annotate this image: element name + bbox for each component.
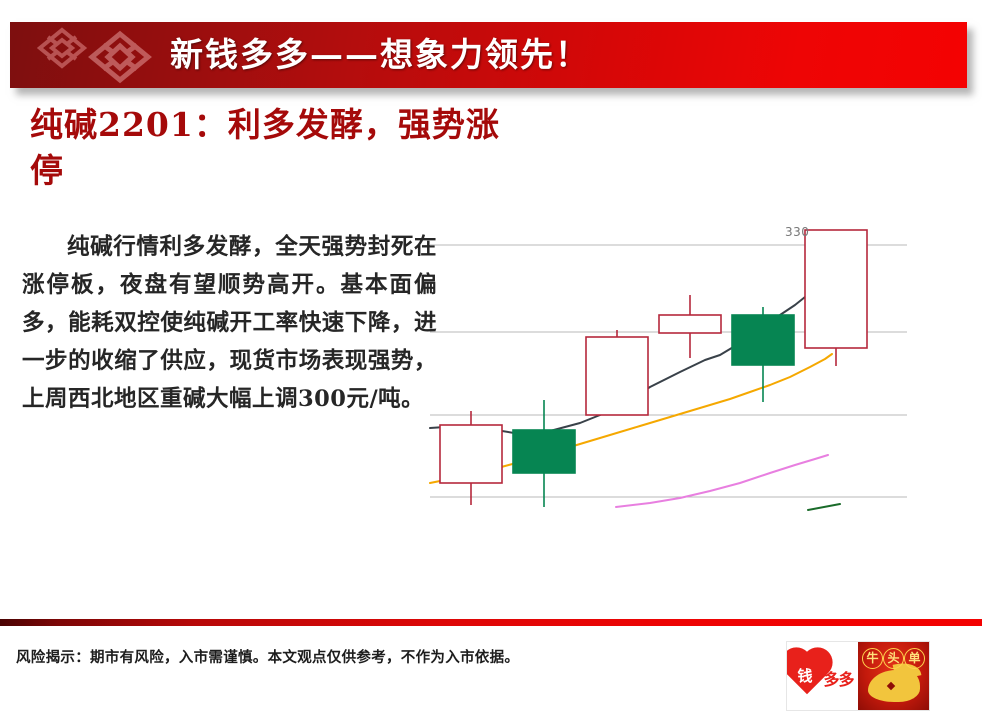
candle-body (586, 337, 648, 415)
candle-5 (805, 230, 867, 366)
header-banner: 新钱多多——想象力领先！ (10, 22, 967, 88)
footer-disclaimer: 风险揭示：期市有风险，入市需谨慎。本文观点仅供参考，不作为入市依据。 (16, 646, 519, 667)
chart-price-label: 330 (785, 225, 809, 239)
candle-body (659, 315, 721, 333)
candle-body (513, 430, 575, 473)
series-MA-pink (616, 455, 828, 507)
candle-body (440, 425, 502, 483)
candle-4 (732, 307, 794, 402)
logo-qianduoduo: 钱 多多 (787, 642, 858, 710)
page-title: 纯碱2201：利多发酵，强势涨停 (30, 102, 500, 194)
logo-niutoudan-chars: 牛 头 单 (862, 648, 925, 669)
candle-3 (659, 295, 721, 358)
candle-1 (513, 400, 575, 507)
logo-duoduo-chars: 多多 (824, 666, 854, 690)
niu-char-2: 头 (883, 648, 904, 669)
logo-niutoudan: 牛 头 单 (858, 642, 929, 710)
footer-divider (0, 619, 982, 626)
chart-canvas (420, 215, 920, 515)
logo-qian-char: 钱 (798, 665, 813, 686)
series-MA-green-seg (808, 504, 840, 510)
candlestick-chart: 330 (420, 215, 920, 515)
candle-0 (440, 411, 502, 505)
footer-logos: 钱 多多 牛 头 单 (786, 641, 930, 711)
niu-char-3: 单 (904, 648, 925, 669)
candle-2 (586, 330, 648, 415)
body-paragraph: 纯碱行情利多发酵，全天强势封死在涨停板，夜盘有望顺势高开。基本面偏多，能耗双控使… (22, 228, 437, 418)
header-title: 新钱多多——想象力领先！ (170, 22, 967, 88)
candle-body (805, 230, 867, 348)
chinese-knot-icon (24, 24, 164, 86)
niu-char-1: 牛 (862, 648, 883, 669)
candle-body (732, 315, 794, 365)
